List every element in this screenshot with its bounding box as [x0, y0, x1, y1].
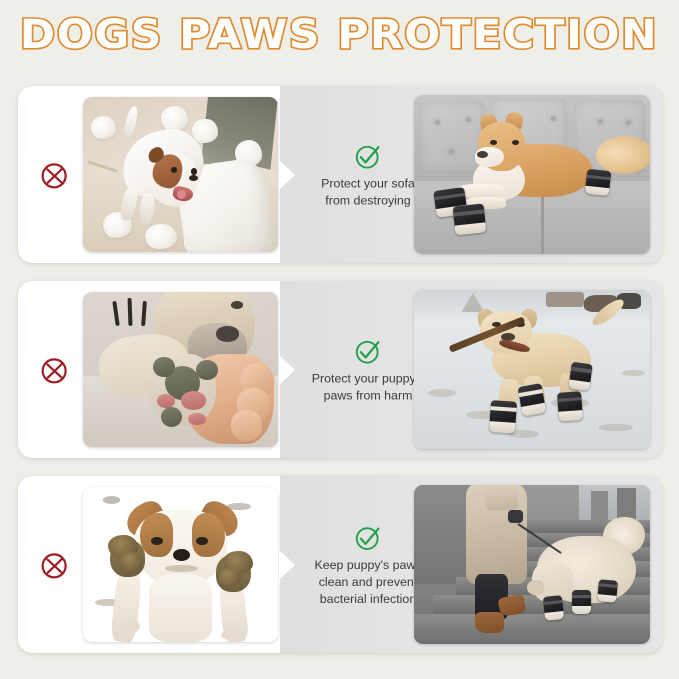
cross-circle-icon	[38, 158, 72, 192]
problem-card-2	[18, 281, 280, 458]
problem-card-1	[18, 86, 280, 263]
feature-panel-3: Keep puppy's paws clean and prevent bact…	[18, 476, 662, 653]
page-title-wrap: DOGS PAWS PROTECTION	[0, 14, 679, 56]
benefit-photo-1	[414, 95, 650, 254]
check-circle-icon	[352, 140, 384, 172]
arrow-right-icon	[279, 355, 295, 385]
cross-circle-icon	[38, 353, 72, 387]
problem-card-3	[18, 476, 280, 653]
check-circle-icon	[352, 521, 384, 553]
feature-panel-2: Protect your puppy's paws from harm	[18, 281, 662, 458]
arrow-right-icon	[279, 160, 295, 190]
arrow-right-icon	[279, 550, 295, 580]
cross-circle-icon	[38, 548, 72, 582]
benefit-card-2: Protect your puppy's paws from harm	[280, 281, 662, 458]
problem-photo-2	[83, 292, 278, 447]
problem-photo-1	[83, 97, 278, 252]
page-title: DOGS PAWS PROTECTION	[20, 14, 658, 56]
check-circle-icon	[352, 335, 384, 367]
problem-photo-3	[83, 487, 278, 642]
benefit-photo-2	[414, 290, 650, 449]
benefit-card-3: Keep puppy's paws clean and prevent bact…	[280, 476, 662, 653]
feature-panel-1: Protect your sofa from destroying	[18, 86, 662, 263]
benefit-card-1: Protect your sofa from destroying	[280, 86, 662, 263]
benefit-photo-3	[414, 485, 650, 644]
